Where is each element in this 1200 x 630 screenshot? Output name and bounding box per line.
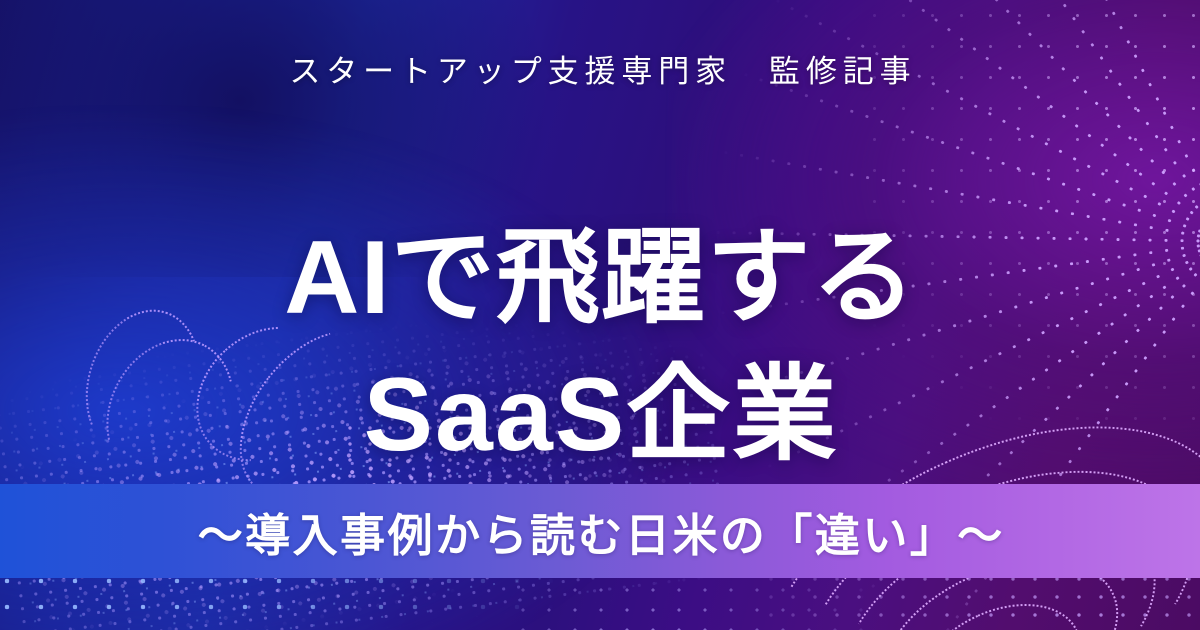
title-line-2: SaaS企業 [0,347,1200,484]
page-title: AIで飛躍する SaaS企業 [0,210,1200,485]
banner-content: スタートアップ支援専門家 監修記事 AIで飛躍する SaaS企業 〜導入事例から… [0,0,1200,630]
subtitle-ribbon: 〜導入事例から読む日米の「違い」〜 [0,484,1200,578]
eyebrow-label: スタートアップ支援専門家 監修記事 [0,46,1200,91]
subtitle-text: 〜導入事例から読む日米の「違い」〜 [195,499,1005,564]
title-line-1: AIで飛躍する [0,210,1200,347]
article-thumbnail-banner: スタートアップ支援専門家 監修記事 AIで飛躍する SaaS企業 〜導入事例から… [0,0,1200,630]
